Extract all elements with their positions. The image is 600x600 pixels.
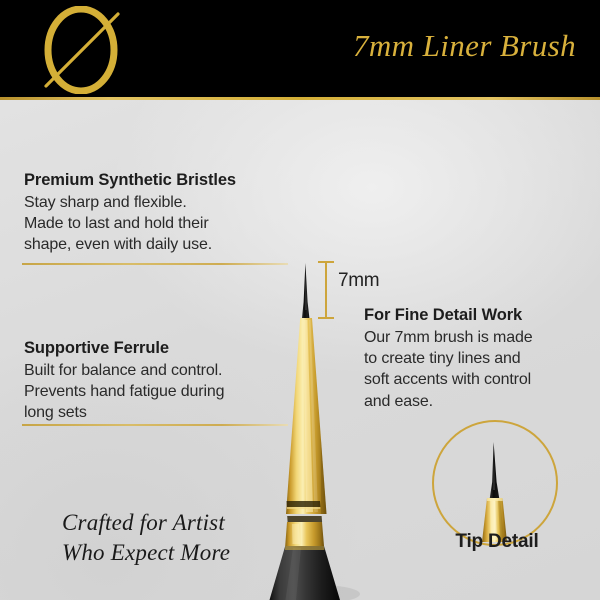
infographic-canvas: 7mm Liner Brush Premium Synthetic Bristl… [0,0,600,600]
feature-block-detail: For Fine Detail Work Our 7mm brush is ma… [364,305,586,412]
bracket-cap-bottom [318,317,334,319]
divider-gold-1 [22,263,288,265]
tip-detail-label: Tip Detail [432,531,562,553]
feature-body-detail: Our 7mm brush is made to create tiny lin… [364,327,586,412]
feature-body-bristles: Stay sharp and flexible. Made to last an… [24,192,296,256]
header-bar: 7mm Liner Brush [0,0,600,97]
liner-brush-illustration-icon [252,258,380,600]
feature-title-bristles: Premium Synthetic Bristles [24,170,296,191]
tagline: Crafted for Artist Who Expect More [62,508,230,569]
feature-block-bristles: Premium Synthetic Bristles Stay sharp an… [24,170,296,256]
divider-gold-2 [22,424,288,426]
page-title: 7mm Liner Brush [353,28,576,64]
header-gold-rule [0,97,600,100]
feature-title-detail: For Fine Detail Work [364,305,586,326]
measurement-label: 7mm [338,270,379,292]
vertical-dimension-bracket-icon [318,261,334,319]
slashed-o-monogram-icon [26,6,136,94]
bracket-stem [325,261,327,319]
